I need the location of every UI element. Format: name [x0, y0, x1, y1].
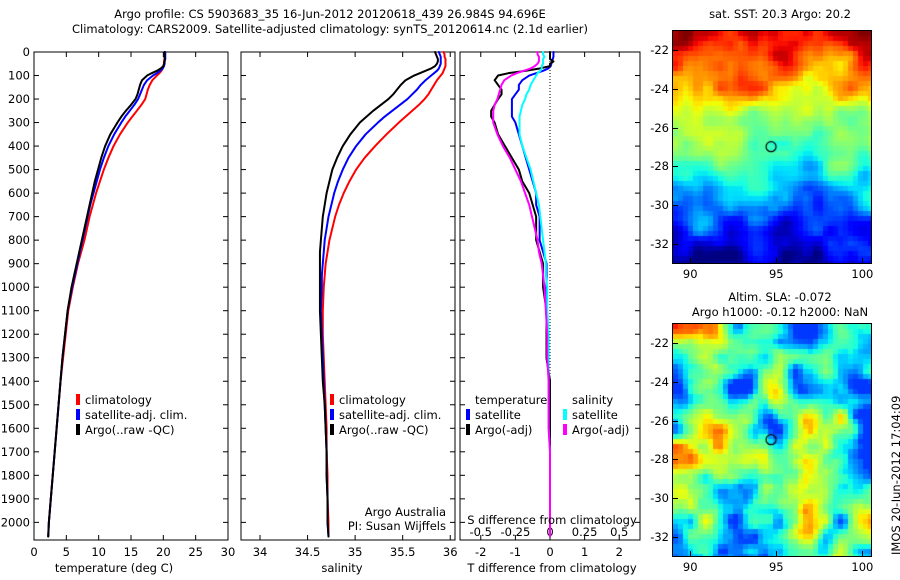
x-tick-label-34.5: 34.5 — [295, 545, 321, 559]
depth-tick-label-900: 900 — [8, 257, 30, 271]
legend-item-temperature-argo-adj: Argo(-adj) — [466, 422, 547, 437]
legend-label-salinity-argo-adj: Argo(-adj) — [572, 423, 629, 437]
map-y-tick — [673, 537, 678, 538]
legend-label-satellite-adj-clim: satellite-adj. clim. — [339, 408, 441, 422]
sst-map-frame — [672, 30, 872, 264]
legend-swatch-argo-raw — [330, 424, 334, 435]
temperature-panel-legend: climatology satellite-adj. clim. Argo(..… — [76, 392, 187, 437]
map-x-tick — [776, 551, 777, 556]
legend-swatch-climatology — [76, 394, 80, 405]
sla-map-title-line2: Argo h1000: -0.12 h2000: NaN — [660, 305, 900, 319]
agency-pi: PI: Susan Wijffels — [286, 519, 446, 533]
depth-tick-label-1000: 1000 — [1, 280, 30, 294]
series-line-satellite-adj-clim- — [48, 52, 165, 536]
legend-item-salinity-argo-adj: Argo(-adj) — [563, 422, 629, 437]
difference-panel-legend-temperature: temperature satellite Argo(-adj) — [466, 392, 547, 437]
map-y-tick — [673, 382, 678, 383]
map-x-tick-label-100: 100 — [846, 560, 878, 574]
legend-swatch-argo-raw — [76, 424, 80, 435]
map-y-tick-label--24: -24 — [637, 82, 669, 96]
legend-item-temperature-satellite: satellite — [466, 407, 547, 422]
legend-heading-salinity: salinity — [563, 392, 629, 407]
legend-label-temperature-argo-adj: Argo(-adj) — [475, 423, 532, 437]
series-line-temperature-satellite — [512, 52, 554, 536]
series-line-argo-raw-qc- — [320, 52, 438, 536]
page-title-line2: Climatology: CARS2009. Satellite-adjuste… — [0, 22, 660, 36]
map-y-tick-label--28: -28 — [637, 452, 669, 466]
map-x-tick — [690, 258, 691, 263]
legend-label-climatology: climatology — [339, 393, 406, 407]
depth-tick-label-200: 200 — [8, 92, 30, 106]
map-y-tick — [673, 166, 678, 167]
depth-tick-label-800: 800 — [8, 233, 30, 247]
map-x-tick — [776, 258, 777, 263]
series-line-salinity-argo-adj- — [493, 52, 550, 536]
x-tick-label--1: -1 — [510, 545, 521, 559]
map-y-tick-label--26: -26 — [637, 121, 669, 135]
map-y-tick-label--22: -22 — [637, 43, 669, 57]
legend-item-argo-raw: Argo(..raw -QC) — [330, 422, 441, 437]
t-difference-axis-label: T difference from climatology — [452, 561, 652, 575]
legend-spacer — [563, 394, 567, 405]
x-tick-label-2: 2 — [616, 545, 623, 559]
legend-item-satellite-adj-clim: satellite-adj. clim. — [330, 407, 441, 422]
legend-swatch-climatology — [330, 394, 334, 405]
x-tick-label-30: 30 — [221, 545, 236, 559]
s-x-tick-label--0.25: -0.25 — [501, 525, 531, 539]
map-y-tick-label--30: -30 — [637, 491, 669, 505]
plot-frame-difference-profile — [460, 52, 640, 540]
map-y-tick-label--22: -22 — [637, 336, 669, 350]
legend-swatch-temperature-argo-adj — [466, 424, 470, 435]
series-line-argo-raw-qc- — [48, 52, 164, 536]
map-y-tick — [673, 244, 678, 245]
s-x-tick-label-0.25: 0.25 — [572, 525, 598, 539]
x-tick-label-15: 15 — [124, 545, 139, 559]
map-y-tick-label--24: -24 — [637, 375, 669, 389]
page-title-line1: Argo profile: CS 5903683_35 16-Jun-2012 … — [0, 7, 660, 21]
legend-label-argo-raw: Argo(..raw -QC) — [339, 423, 429, 437]
salinity-axis-label: salinity — [228, 561, 456, 575]
legend-swatch-satellite-adj-clim — [330, 409, 334, 420]
map-y-tick-label--30: -30 — [637, 198, 669, 212]
depth-tick-label-1300: 1300 — [1, 351, 30, 365]
series-line-climatology — [323, 52, 446, 536]
temperature-axis-label: temperature (deg C) — [0, 561, 228, 575]
sst-map-title: sat. SST: 20.3 Argo: 20.2 — [660, 7, 900, 21]
map-y-tick — [673, 343, 678, 344]
x-tick-label-0: 0 — [30, 545, 37, 559]
depth-tick-label-2000: 2000 — [1, 515, 30, 529]
x-tick-label-0: 0 — [546, 545, 553, 559]
map-y-tick — [673, 89, 678, 90]
legend-spacer — [466, 394, 470, 405]
map-x-tick-label-95: 95 — [760, 560, 792, 574]
s-x-tick-label-0.5: 0.5 — [610, 525, 628, 539]
legend-heading-label: salinity — [572, 393, 613, 407]
legend-item-argo-raw: Argo(..raw -QC) — [76, 422, 187, 437]
depth-tick-label-1700: 1700 — [1, 445, 30, 459]
difference-panel-legend-salinity: salinity satellite Argo(-adj) — [563, 392, 629, 437]
imos-timestamp: IMOS 20-Jun-2012 17:04:09 — [889, 396, 900, 555]
series-line-satellite-adj-clim- — [321, 52, 441, 536]
sla-map-title-line1: Altim. SLA: -0.072 — [660, 290, 900, 304]
legend-label-climatology: climatology — [85, 393, 152, 407]
legend-label-argo-raw: Argo(..raw -QC) — [85, 423, 175, 437]
x-tick-label-1: 1 — [581, 545, 588, 559]
map-y-tick-label--32: -32 — [637, 530, 669, 544]
x-tick-label-10: 10 — [91, 545, 106, 559]
depth-tick-label-400: 400 — [8, 139, 30, 153]
map-x-tick-label-90: 90 — [674, 267, 706, 281]
x-tick-label-35: 35 — [348, 545, 363, 559]
x-tick-label-34: 34 — [253, 545, 268, 559]
map-x-tick — [690, 551, 691, 556]
map-y-tick — [673, 498, 678, 499]
x-tick-label-25: 25 — [188, 545, 203, 559]
x-tick-label-35.5: 35.5 — [390, 545, 416, 559]
salinity-panel-legend: climatology satellite-adj. clim. Argo(..… — [330, 392, 441, 437]
agency-note: Argo Australia PI: Susan Wijffels — [286, 505, 446, 533]
depth-tick-label-1500: 1500 — [1, 398, 30, 412]
map-y-tick — [673, 50, 678, 51]
map-x-tick — [862, 551, 863, 556]
map-y-tick — [673, 205, 678, 206]
legend-label-satellite-adj-clim: satellite-adj. clim. — [85, 408, 187, 422]
plot-frame-salinity-profile — [241, 52, 455, 540]
map-y-tick — [673, 459, 678, 460]
map-y-tick-label--32: -32 — [637, 237, 669, 251]
legend-swatch-satellite-adj-clim — [76, 409, 80, 420]
x-tick-label-20: 20 — [156, 545, 171, 559]
depth-tick-label-1100: 1100 — [1, 304, 30, 318]
map-y-tick-label--26: -26 — [637, 414, 669, 428]
map-x-tick — [862, 258, 863, 263]
map-x-tick-label-95: 95 — [760, 267, 792, 281]
legend-heading-label: temperature — [475, 393, 547, 407]
depth-tick-label-300: 300 — [8, 116, 30, 130]
plot-frame-temperature-profile — [34, 52, 228, 540]
legend-swatch-salinity-satellite — [563, 409, 567, 420]
depth-tick-label-700: 700 — [8, 210, 30, 224]
legend-item-climatology: climatology — [76, 392, 187, 407]
depth-tick-label-1600: 1600 — [1, 421, 30, 435]
legend-swatch-salinity-argo-adj — [563, 424, 567, 435]
depth-tick-label-600: 600 — [8, 186, 30, 200]
s-x-tick-label-0: 0 — [546, 525, 553, 539]
depth-tick-label-1200: 1200 — [1, 327, 30, 341]
legend-item-climatology: climatology — [330, 392, 441, 407]
agency-name: Argo Australia — [286, 505, 446, 519]
series-line-temperature-argo-adj- — [491, 52, 553, 536]
x-tick-label--2: -2 — [475, 545, 486, 559]
legend-heading-temperature: temperature — [466, 392, 547, 407]
map-x-tick-label-90: 90 — [674, 560, 706, 574]
depth-tick-label-1800: 1800 — [1, 468, 30, 482]
map-y-tick — [673, 421, 678, 422]
legend-item-salinity-satellite: satellite — [563, 407, 629, 422]
legend-label-temperature-satellite: satellite — [475, 408, 521, 422]
sla-map-frame — [672, 323, 872, 557]
legend-item-satellite-adj-clim: satellite-adj. clim. — [76, 407, 187, 422]
x-tick-label-5: 5 — [63, 545, 70, 559]
depth-tick-label-1900: 1900 — [1, 492, 30, 506]
depth-tick-label-1400: 1400 — [1, 374, 30, 388]
x-tick-label-36: 36 — [443, 545, 458, 559]
series-line-salinity-satellite — [520, 52, 550, 536]
map-x-tick-label-100: 100 — [846, 267, 878, 281]
legend-swatch-temperature-satellite — [466, 409, 470, 420]
map-y-tick-label--28: -28 — [637, 159, 669, 173]
depth-tick-label-500: 500 — [8, 163, 30, 177]
s-x-tick-label--0.5: -0.5 — [470, 525, 492, 539]
s-difference-axis-label: S difference from climatology — [452, 513, 652, 527]
depth-tick-label-0: 0 — [23, 45, 30, 59]
depth-tick-label-100: 100 — [8, 69, 30, 83]
map-y-tick — [673, 128, 678, 129]
legend-label-salinity-satellite: satellite — [572, 408, 618, 422]
series-line-climatology — [48, 52, 164, 536]
